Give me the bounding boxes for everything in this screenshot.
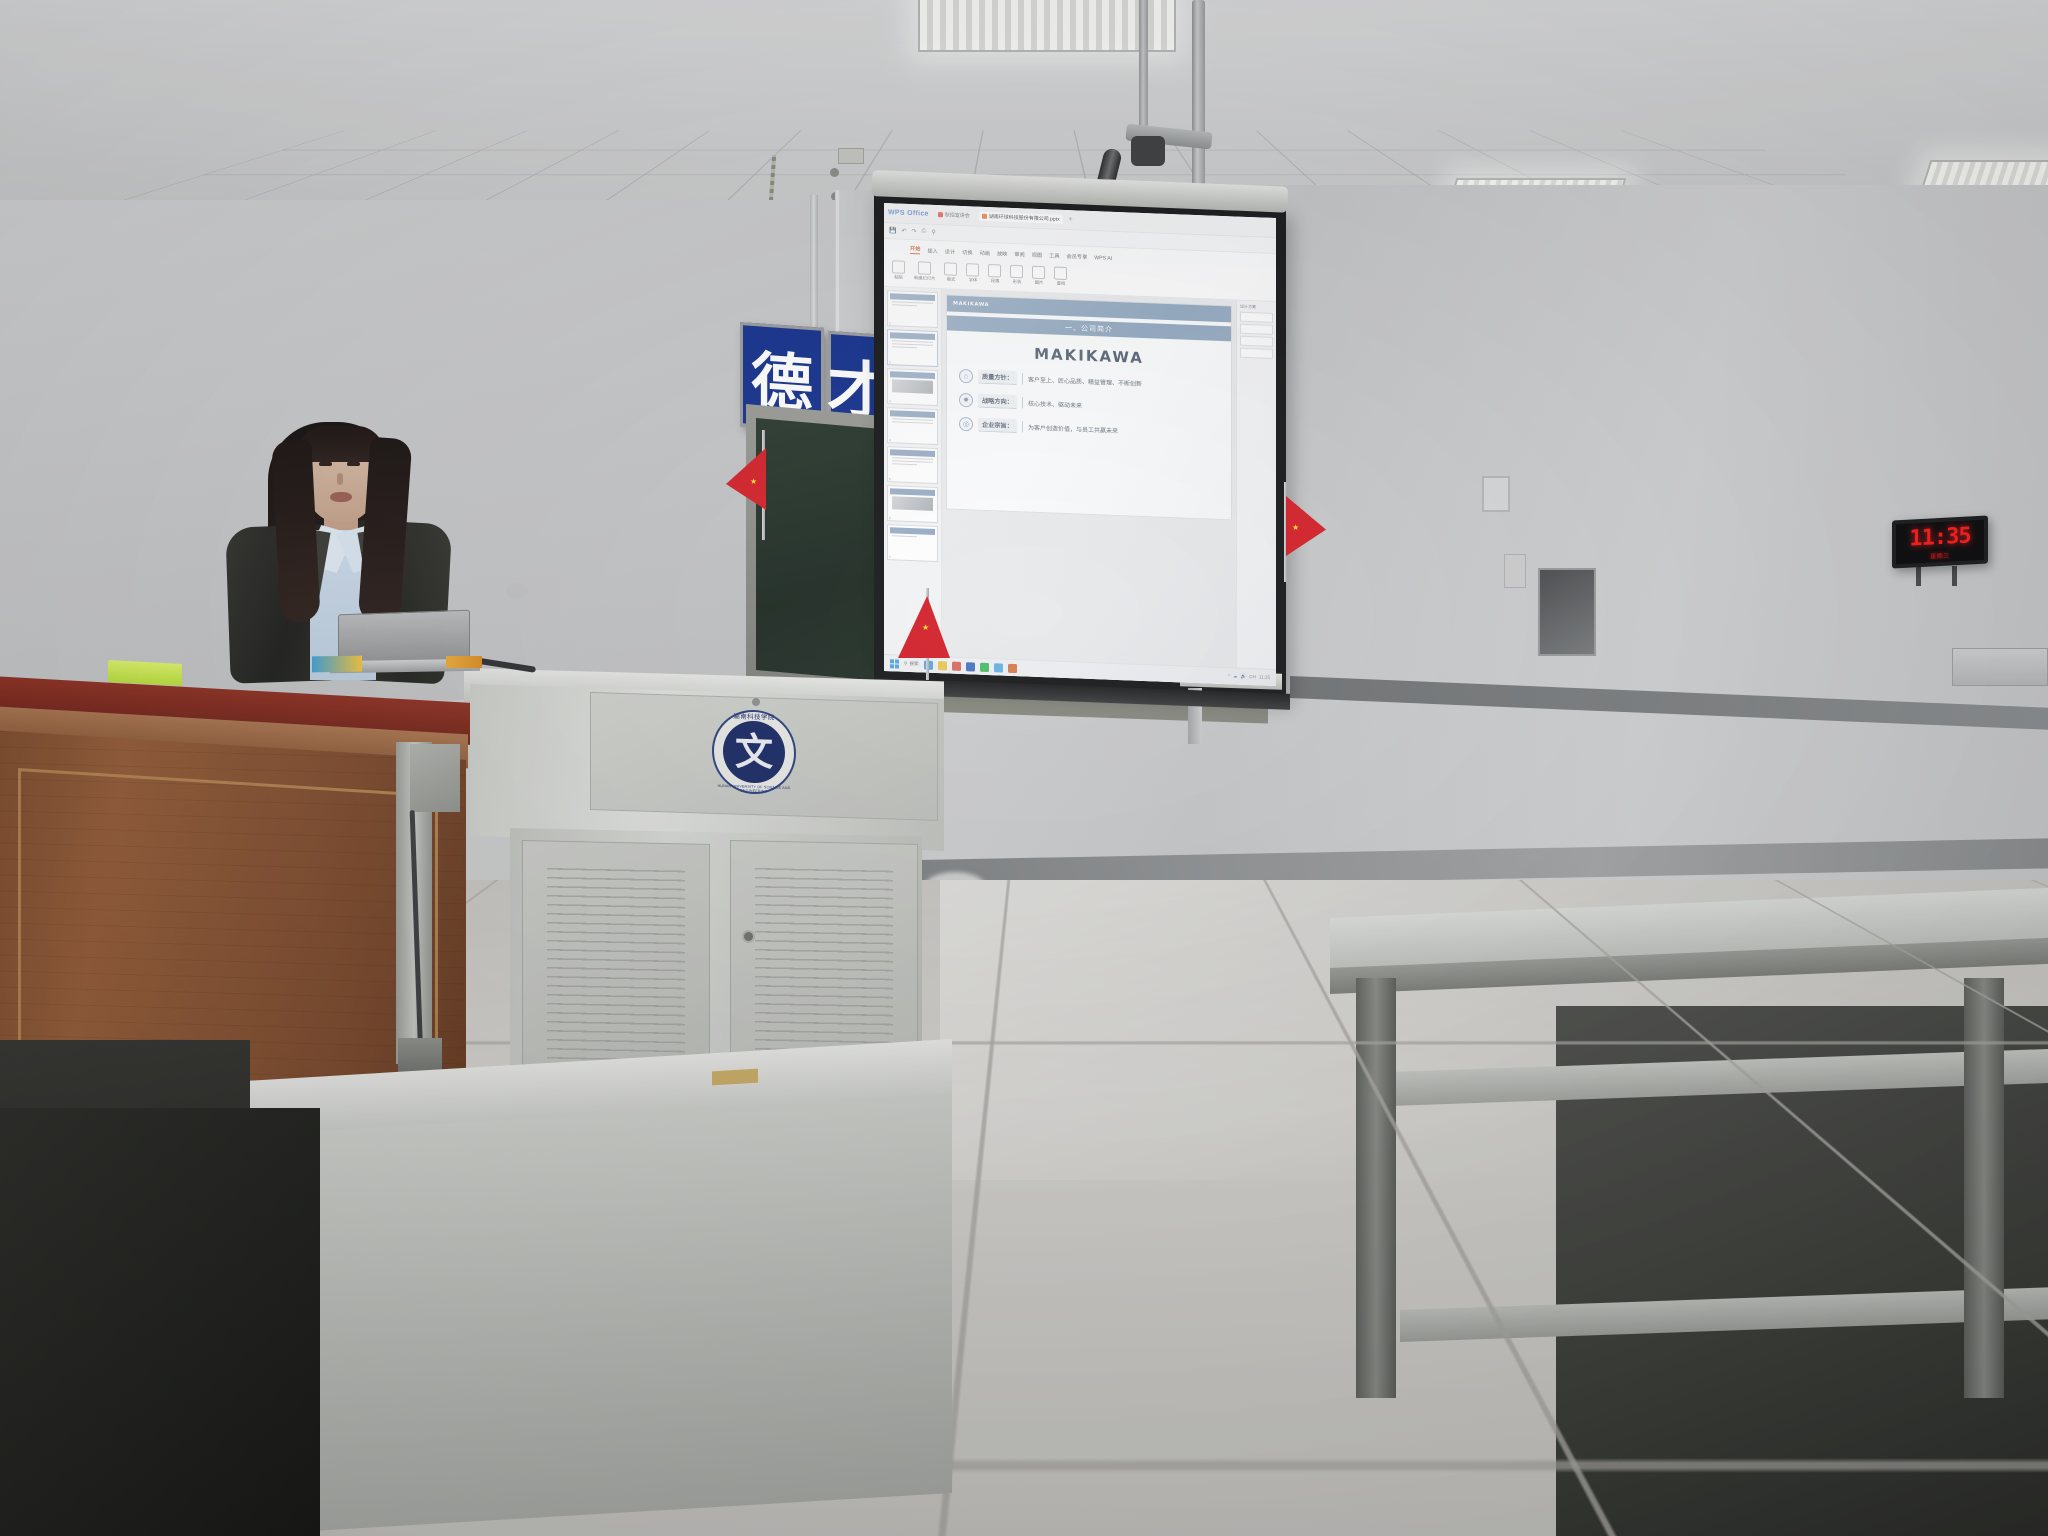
flag-star-icon: ★ [1292,524,1299,532]
document-tab-1[interactable]: 秋招宣讲会 [935,210,973,220]
ribbon-tab-design[interactable]: 设计 [945,248,955,255]
thumb-number: 3 [889,399,891,403]
find-icon [1054,266,1067,279]
shape-icon [1010,264,1023,277]
taskbar-app-ppt[interactable] [1008,663,1017,672]
ribbon-button-label: 图片 [1035,279,1044,285]
slide-row-value: 为客户创造价值，与员工共赢未来 [1028,422,1118,434]
ribbon-button-label: 段落 [991,278,1000,284]
bank-icon: ⌂ [959,369,973,384]
eye-right [347,462,360,466]
projector-housing [1131,136,1165,166]
thumb-band [890,488,935,496]
foreground-dark-panel [0,1108,320,1536]
ribbon-tab-member[interactable]: 会员专享 [1067,253,1088,261]
thumb-image [892,379,933,394]
wall-bolt [830,168,839,177]
search-icon[interactable]: ⚲ [931,229,935,236]
ribbon-button-label: 查找 [1057,280,1066,286]
classroom-scene: 德 才 WPS Office 秋招宣讲会 湖南环球科技股份有限公司.pptx + [0,0,2048,1536]
ventilation-slots [755,868,893,1071]
podium-foot [398,1038,442,1074]
ribbon-button-label: 粘贴 [894,274,903,280]
wall-outlet[interactable] [1504,554,1526,588]
ribbon-button-picture[interactable]: 图片 [1032,265,1045,285]
thumb-line [892,346,917,348]
thumb-number: 4 [889,438,891,442]
thumb-number: 1 [889,321,891,325]
new-slide-icon [918,261,931,274]
design-option[interactable] [1240,336,1273,347]
tray-clock[interactable]: 11:35 [1259,674,1270,680]
ribbon-button-new-slide[interactable]: 新建幻灯片 [914,261,935,282]
system-tray[interactable]: ^ ☁ 🔊 CH 11:35 [1228,673,1270,681]
ribbon-button-label: 形状 [1013,278,1022,284]
redo-icon[interactable]: ↷ [912,228,917,235]
mouth [330,492,352,502]
ribbon-tab-animations[interactable]: 动画 [980,250,990,257]
clock-mount [1952,566,1957,586]
ceiling-pipe [1192,0,1205,195]
tray-chevron-up-icon[interactable]: ^ [1228,673,1230,679]
thumb-number: 2 [889,360,891,364]
wall-outlet[interactable] [1482,476,1510,512]
paragraph-icon [988,264,1001,277]
ribbon-tab-wps-ai[interactable]: WPS AI [1094,255,1112,262]
led-wall-clock: 11:35 星期三 [1892,515,1988,568]
slide-canvas-area[interactable]: MAKIKAWA 一、公司简介 MAKIKAWA ⌂ 质量方针： 客户至上、匠心… [942,289,1236,670]
panel-screw [752,698,760,706]
ribbon-tab-view[interactable]: 视图 [1032,252,1042,259]
university-emblem: 湖南科技学院 文 HUNAN UNIVERSITY OF SCIENCE AND… [712,709,796,796]
cabinet-lock-icon[interactable] [744,932,753,941]
layout-icon [944,262,957,275]
divider [1022,397,1023,408]
emblem-inner-disc: 文 [723,720,785,784]
slide-header-brand: MAKIKAWA [953,301,989,308]
taskbar-app-qq[interactable] [994,663,1003,672]
current-slide[interactable]: MAKIKAWA 一、公司简介 MAKIKAWA ⌂ 质量方针： 客户至上、匠心… [946,294,1232,519]
ribbon-tab-transitions[interactable]: 切换 [962,249,972,256]
chinese-flag: ★ [726,430,770,540]
document-tab-label: 秋招宣讲会 [945,211,970,219]
divider [1022,421,1023,432]
chinese-flag: ★ [898,588,956,680]
document-tab-label: 湖南环球科技股份有限公司.pptx [989,213,1060,223]
thumb-number: 7 [889,555,891,559]
ribbon-button-shape[interactable]: 形状 [1010,264,1023,284]
design-option[interactable] [1240,348,1273,359]
bench-scuff-mark [712,1069,758,1086]
design-pane-title: 设计方案 [1240,304,1273,311]
ventilation-slots [547,868,685,1071]
save-icon[interactable]: 💾 [889,227,896,234]
thumb-band [890,449,935,457]
taskbar-app-wechat[interactable] [980,662,989,671]
wall-bracket [838,148,864,164]
ribbon-button-paste[interactable]: 粘贴 [892,260,905,280]
ribbon-tab-insert[interactable]: 插入 [927,248,937,255]
nose [337,473,343,485]
table-leg [1964,978,2004,1398]
thumb-image [892,496,933,511]
wall-socket-strip[interactable] [1952,648,2048,686]
wall-control-box[interactable] [1538,568,1596,656]
print-icon[interactable]: ⎙ [922,228,927,235]
design-ideas-pane[interactable]: 设计方案 [1236,301,1276,673]
clipboard-icon [892,260,905,273]
thumb-number: 5 [889,477,891,481]
podium-side-box [410,744,460,812]
emblem-english-name: HUNAN UNIVERSITY OF SCIENCE AND ENGINEER… [712,784,796,795]
undo-icon[interactable]: ↶ [901,228,906,235]
eye-left [319,462,332,466]
ribbon-button-find[interactable]: 查找 [1054,266,1067,286]
thumb-band [890,332,935,340]
chinese-flag: ★ [1278,482,1324,582]
ceiling-light-panel [918,0,1176,52]
emblem-bird-mark: 文 [735,732,773,771]
highlighter-marker[interactable] [108,660,182,686]
flag-star-icon: ★ [922,624,929,632]
taskbar-app-word[interactable] [966,662,975,671]
thumb-line [892,421,933,424]
table-leg [1356,978,1396,1398]
brand-wordmark: MAKIKAWA [947,341,1231,370]
ribbon-button-font[interactable]: 字体 [966,263,979,283]
list-item[interactable]: 3 [887,368,938,406]
document-tab-2[interactable]: 湖南环球科技股份有限公司.pptx [979,212,1063,224]
list-item[interactable]: 5 [887,446,938,484]
thumb-band [890,527,935,535]
thumb-line [892,535,917,537]
list-item[interactable]: 4 [887,407,938,445]
thumb-line [892,463,917,465]
ribbon-button-label: 字体 [969,277,978,283]
thumb-band [890,293,935,301]
desk-object-box [312,656,362,673]
thumb-number: 6 [889,516,891,520]
thumb-band [890,410,935,418]
wall-smudge [506,583,528,599]
list-item[interactable]: 7 [887,524,938,562]
clock-time: 11:35 [1909,523,1970,551]
flag-cloth [726,448,766,510]
desk-object-tape [446,656,482,668]
font-icon [966,263,979,276]
slide-row-key: 质量方针： [978,370,1017,385]
ribbon-tab-home[interactable]: 开始 [910,245,920,254]
slide-row-quality: ⌂ 质量方针： 客户至上、匠心品质、精益管理、不断创新 [947,368,1231,393]
ribbon-button-label: 新建幻灯片 [914,275,935,282]
ppt-file-icon [982,214,987,219]
slide-row-strategy: ✸ 战略方向： 核心技术、驱动未来 [947,392,1231,417]
ceiling-pipe-thin [1139,0,1148,128]
picture-icon [1032,265,1045,278]
tray-cloud-icon[interactable]: ☁ [1233,673,1238,679]
compass-icon: ✸ [959,393,973,408]
clock-mount [1916,566,1921,586]
tray-volume-icon[interactable]: 🔊 [1240,674,1246,680]
target-icon: ◎ [959,417,973,432]
list-item[interactable]: 1 [887,290,938,328]
foreground-bench-front [228,1093,952,1536]
slide-row-key: 企业宗旨： [978,418,1017,433]
wps-logo: WPS Office [888,209,929,218]
ribbon-tab-review[interactable]: 审阅 [1014,251,1024,258]
thumb-band [890,371,935,379]
flag-star-icon: ★ [750,478,757,486]
ppt-file-icon [938,212,943,217]
ribbon-button-paragraph[interactable]: 段落 [988,264,1001,284]
ribbon-button-label: 版式 [947,276,956,282]
slide-row-mission: ◎ 企业宗旨： 为客户创造价值，与员工共赢未来 [947,416,1231,441]
design-option[interactable] [1240,312,1273,323]
ribbon-tab-tools[interactable]: 工具 [1049,252,1059,259]
new-tab-button[interactable]: + [1069,216,1073,223]
tray-ime-indicator[interactable]: CH [1249,674,1256,680]
clock-weekday: 星期三 [1930,550,1950,560]
slide-row-value: 核心技术、驱动未来 [1028,398,1082,409]
divider [1022,373,1023,384]
thumb-line [892,304,917,306]
slide-row-key: 战略方向： [978,394,1017,409]
page-title: 一、公司简介 [1065,322,1113,334]
ribbon-button-layout[interactable]: 版式 [944,262,957,282]
design-option[interactable] [1240,324,1273,335]
ribbon-tab-slideshow[interactable]: 放映 [997,250,1007,257]
slide-row-value: 客户至上、匠心品质、精益管理、不断创新 [1028,374,1142,387]
list-item[interactable]: 2 [887,329,938,367]
list-item[interactable]: 6 [887,485,938,523]
